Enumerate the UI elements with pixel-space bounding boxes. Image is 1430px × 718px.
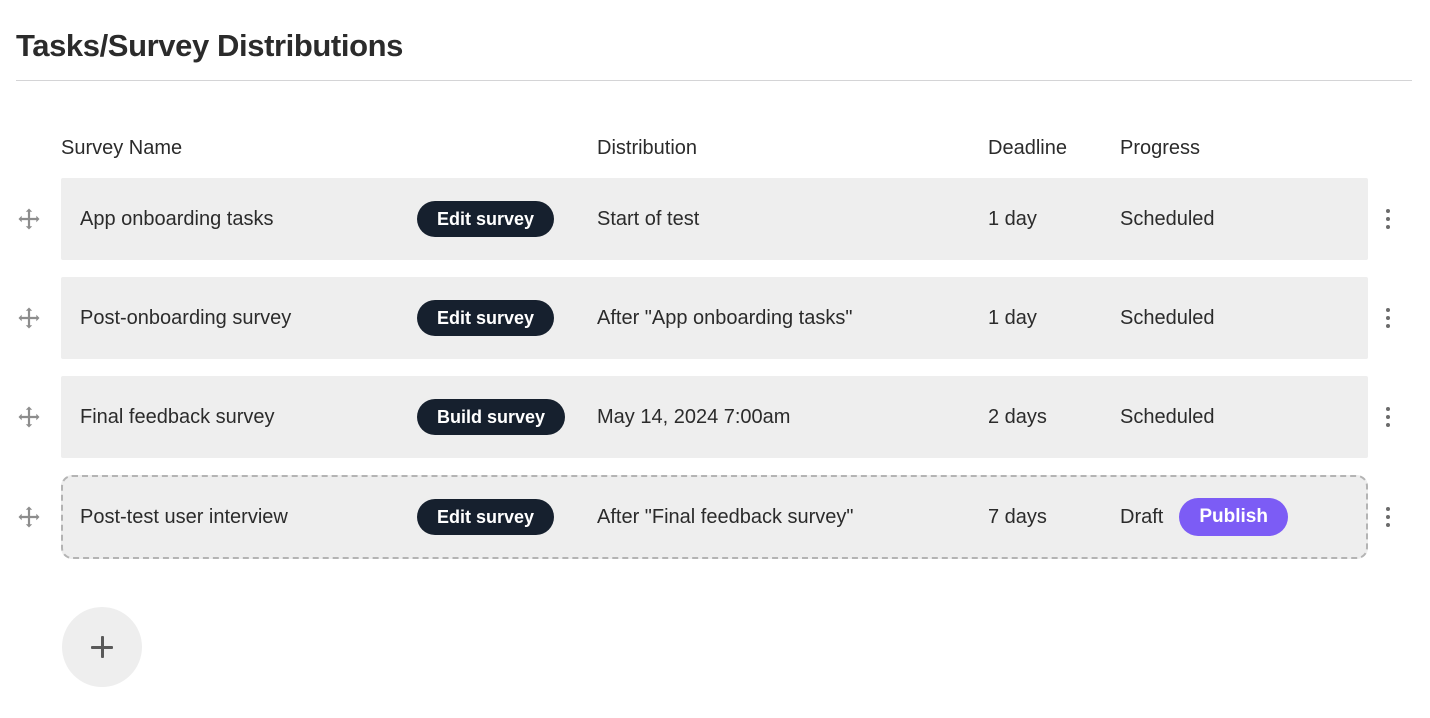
cell-distribution: After "Final feedback survey" <box>597 475 854 559</box>
kebab-menu-icon[interactable] <box>1376 206 1400 232</box>
status-badge: Draft <box>1120 506 1163 529</box>
cell-distribution: After "App onboarding tasks" <box>597 277 852 359</box>
survey-distributions-table: Survey Name Distribution Deadline Progre… <box>0 118 1430 576</box>
status-badge: Scheduled <box>1120 208 1215 231</box>
cell-progress: Scheduled <box>1120 277 1215 359</box>
kebab-menu-icon[interactable] <box>1376 404 1400 430</box>
add-row-button[interactable] <box>62 607 142 687</box>
survey-action-button[interactable]: Edit survey <box>417 300 554 336</box>
status-badge: Scheduled <box>1120 406 1215 429</box>
table-row[interactable]: Final feedback surveyBuild surveyMay 14,… <box>0 376 1430 458</box>
publish-button[interactable]: Publish <box>1179 498 1288 536</box>
move-arrows-icon[interactable] <box>16 305 42 331</box>
column-header-deadline: Deadline <box>988 118 1067 178</box>
move-arrows-icon[interactable] <box>16 504 42 530</box>
survey-action-button[interactable]: Edit survey <box>417 201 554 237</box>
plus-icon-vertical <box>101 636 104 658</box>
cell-survey-name: App onboarding tasks <box>80 178 273 260</box>
table-header-row: Survey Name Distribution Deadline Progre… <box>0 118 1430 178</box>
table-body: App onboarding tasksEdit surveyStart of … <box>0 178 1430 559</box>
survey-action-button[interactable]: Edit survey <box>417 499 554 535</box>
column-header-distribution: Distribution <box>597 118 697 178</box>
cell-progress: Scheduled <box>1120 178 1215 260</box>
table-row[interactable]: App onboarding tasksEdit surveyStart of … <box>0 178 1430 260</box>
cell-survey-name: Final feedback survey <box>80 376 275 458</box>
kebab-menu-icon[interactable] <box>1376 504 1400 530</box>
column-header-survey-name: Survey Name <box>61 118 182 178</box>
move-arrows-icon[interactable] <box>16 206 42 232</box>
page-title: Tasks/Survey Distributions <box>16 24 403 68</box>
cell-deadline: 1 day <box>988 277 1037 359</box>
table-row[interactable]: Post-onboarding surveyEdit surveyAfter "… <box>0 277 1430 359</box>
cell-survey-name: Post-onboarding survey <box>80 277 291 359</box>
kebab-menu-icon[interactable] <box>1376 305 1400 331</box>
cell-distribution: Start of test <box>597 178 699 260</box>
table-row[interactable]: Post-test user interviewEdit surveyAfter… <box>0 475 1430 559</box>
status-badge: Scheduled <box>1120 307 1215 330</box>
cell-survey-name: Post-test user interview <box>80 475 288 559</box>
cell-deadline: 1 day <box>988 178 1037 260</box>
cell-progress: DraftPublish <box>1120 475 1288 559</box>
cell-deadline: 2 days <box>988 376 1047 458</box>
header-divider <box>16 80 1412 81</box>
cell-deadline: 7 days <box>988 475 1047 559</box>
survey-action-button[interactable]: Build survey <box>417 399 565 435</box>
cell-distribution: May 14, 2024 7:00am <box>597 376 790 458</box>
column-header-progress: Progress <box>1120 118 1200 178</box>
cell-progress: Scheduled <box>1120 376 1215 458</box>
move-arrows-icon[interactable] <box>16 404 42 430</box>
